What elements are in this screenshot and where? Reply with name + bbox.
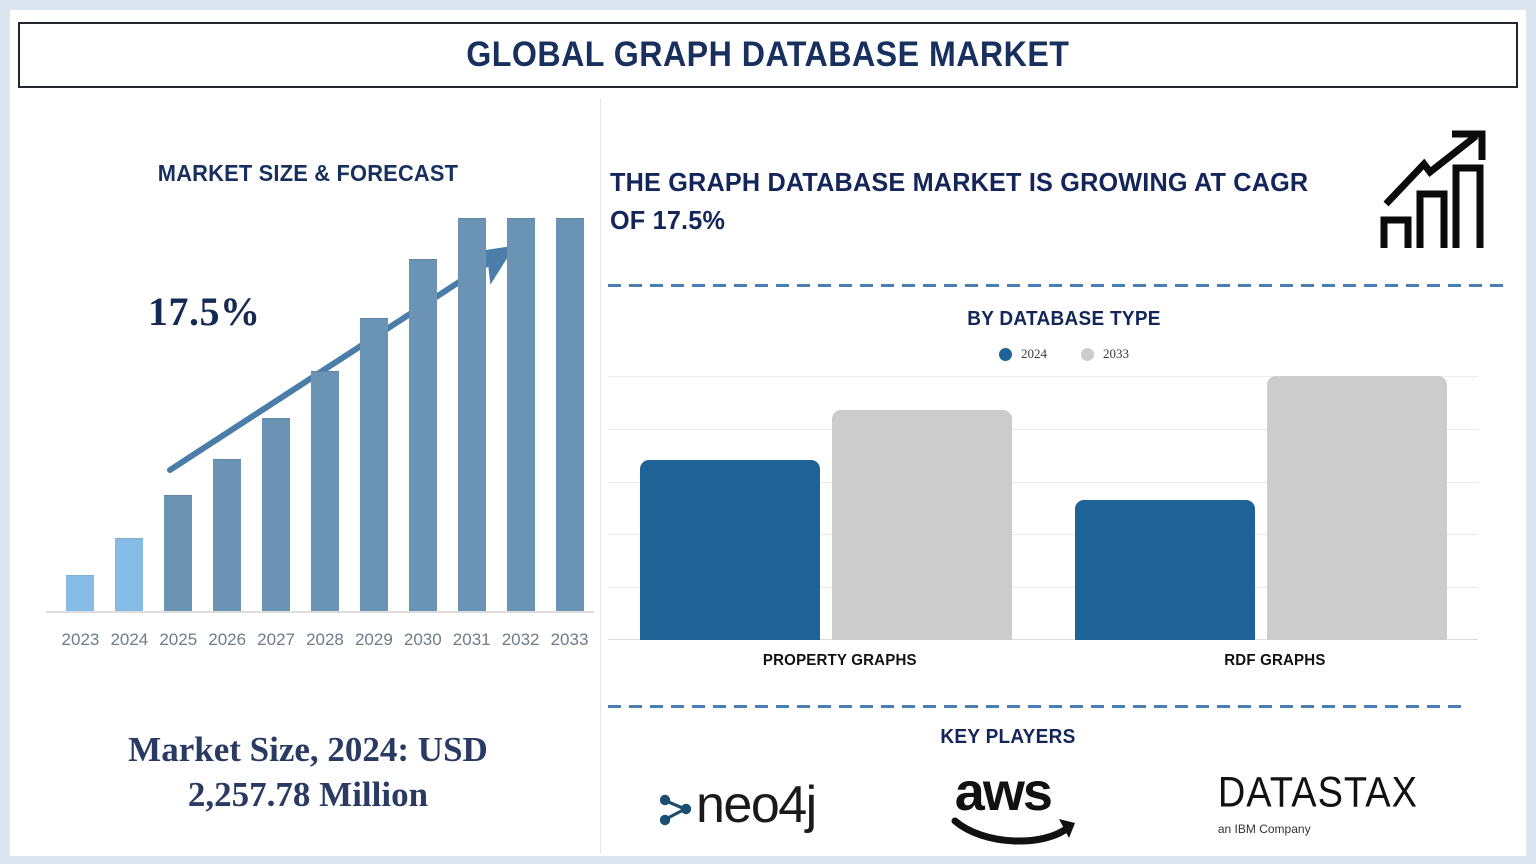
divider-dashed-bottom — [608, 705, 1468, 708]
grouped-bar-series — [608, 376, 1478, 640]
x-tick-2028: 2028 — [301, 630, 350, 650]
x-tick-2025: 2025 — [154, 630, 203, 650]
database-type-bar-chart: PROPERTY GRAPHS RDF GRAPHS — [608, 376, 1478, 728]
by-database-type-title: BY DATABASE TYPE — [625, 308, 1503, 331]
aws-wordmark: aws — [955, 765, 1051, 819]
bar-slot — [203, 218, 252, 611]
x-tick-2029: 2029 — [349, 630, 398, 650]
neo4j-node-graph-icon — [658, 779, 694, 831]
x-tick-2030: 2030 — [398, 630, 447, 650]
legend-label-2024: 2024 — [1021, 346, 1047, 362]
logo-neo4j: neo4j — [658, 779, 816, 831]
market-size-bar-chart: 2023 2024 2025 2026 2027 2028 2029 2030 … — [46, 218, 594, 692]
neo4j-wordmark: neo4j — [696, 779, 816, 831]
bar-2026 — [213, 459, 241, 611]
bar-2031 — [458, 218, 486, 611]
bar-slot — [105, 218, 154, 611]
x-tick-2027: 2027 — [252, 630, 301, 650]
legend-dot-2024 — [999, 348, 1012, 361]
category-labels: PROPERTY GRAPHS RDF GRAPHS — [608, 652, 1478, 670]
bar-2024 — [115, 538, 143, 611]
x-tick-2023: 2023 — [56, 630, 105, 650]
bar-group-rdf-graphs — [1075, 376, 1447, 640]
bar-slot — [545, 218, 594, 611]
logo-aws: aws — [947, 763, 1087, 847]
bar-property-graphs-2024 — [640, 460, 820, 640]
category-label-property-graphs: PROPERTY GRAPHS — [763, 652, 917, 670]
bar-2025 — [164, 495, 192, 611]
bar-slot — [301, 218, 350, 611]
legend-item-2033: 2033 — [1081, 346, 1129, 362]
bar-2032 — [507, 218, 535, 611]
x-tick-2032: 2032 — [496, 630, 545, 650]
bar-2027 — [262, 418, 290, 611]
x-tick-2031: 2031 — [447, 630, 496, 650]
bar-rdf-graphs-2033 — [1267, 376, 1447, 640]
cagr-headline: THE GRAPH DATABASE MARKET IS GROWING AT … — [610, 164, 1328, 239]
bar-2030 — [409, 259, 437, 611]
legend-label-2033: 2033 — [1103, 346, 1129, 362]
bar-group-property-graphs — [640, 376, 1012, 640]
page-title: GLOBAL GRAPH DATABASE MARKET — [466, 35, 1069, 75]
bar-slot — [349, 218, 398, 611]
bar-slot — [252, 218, 301, 611]
bar-slot — [447, 218, 496, 611]
right-panel: THE GRAPH DATABASE MARKET IS GROWING AT … — [602, 98, 1526, 854]
chart-legend: 2024 2033 — [602, 346, 1526, 362]
bar-2033 — [556, 218, 584, 611]
bar-slot — [56, 218, 105, 611]
bar-2028 — [311, 371, 339, 611]
x-tick-2024: 2024 — [105, 630, 154, 650]
bar-property-graphs-2033 — [832, 410, 1012, 640]
x-axis-tick-labels: 2023 2024 2025 2026 2027 2028 2029 2030 … — [56, 630, 594, 650]
left-panel-heading: MARKET SIZE & FORECAST — [33, 160, 584, 187]
aws-smile-arrow-icon — [947, 815, 1087, 849]
bar-rdf-graphs-2024 — [1075, 500, 1255, 640]
market-size-line-1: Market Size, 2024: USD — [128, 730, 488, 769]
market-size-line-2: 2,257.78 Million — [188, 775, 428, 814]
key-players-logos: neo4j aws DATASTAX an IBM Company — [658, 763, 1418, 847]
bar-2029 — [360, 318, 388, 611]
datastax-tagline: an IBM Company — [1218, 822, 1418, 836]
legend-dot-2033 — [1081, 348, 1094, 361]
x-tick-2033: 2033 — [545, 630, 594, 650]
x-tick-2026: 2026 — [203, 630, 252, 650]
logo-datastax: DATASTAX an IBM Company — [1218, 774, 1418, 837]
key-players-title: KEY PLAYERS — [569, 726, 1447, 749]
bar-slot — [398, 218, 447, 611]
divider-dashed-top — [608, 284, 1508, 287]
datastax-wordmark: DATASTAX — [1218, 771, 1418, 816]
market-size-callout: Market Size, 2024: USD 2,257.78 Million — [28, 728, 588, 818]
bar-slot — [496, 218, 545, 611]
bar-chart-growth-icon — [1378, 128, 1498, 254]
bar-slot — [154, 218, 203, 611]
bar-2023 — [66, 575, 94, 611]
legend-item-2024: 2024 — [999, 346, 1047, 362]
market-size-forecast-panel: MARKET SIZE & FORECAST 17.5% — [18, 98, 598, 854]
category-label-rdf-graphs: RDF GRAPHS — [1224, 652, 1325, 670]
title-banner: GLOBAL GRAPH DATABASE MARKET — [18, 22, 1518, 88]
bar-series-container — [56, 218, 594, 611]
infographic-page: GLOBAL GRAPH DATABASE MARKET MARKET SIZE… — [0, 0, 1536, 864]
chart-baseline — [46, 611, 594, 613]
